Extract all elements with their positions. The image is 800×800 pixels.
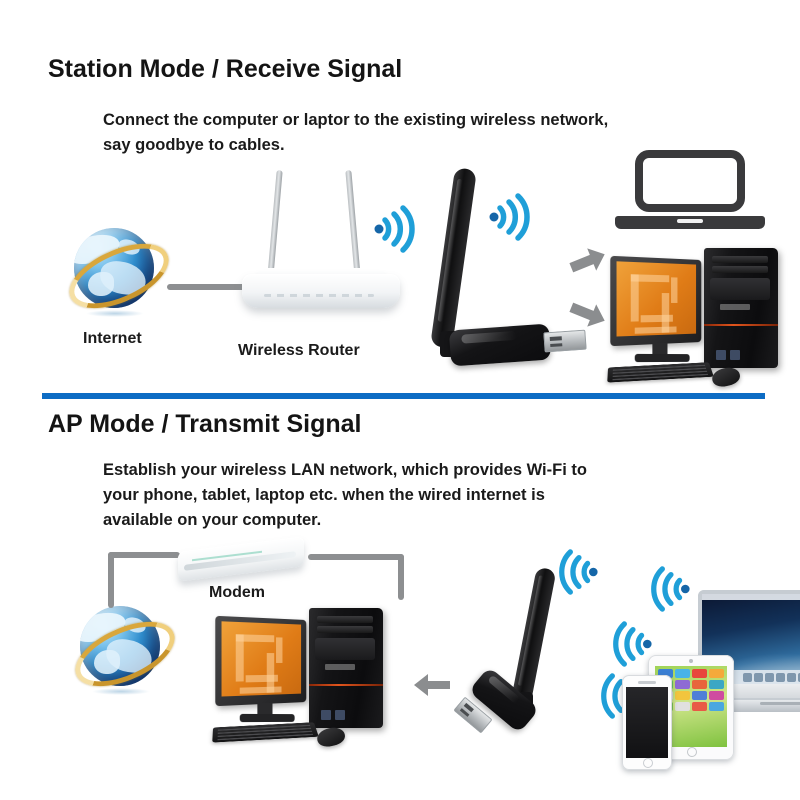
- monitor: [215, 616, 306, 706]
- modem-label: Modem: [209, 584, 265, 602]
- tower-badge: [730, 350, 740, 360]
- computer-tower: [704, 248, 778, 368]
- monitor-stand-base: [240, 714, 295, 722]
- router-body: [242, 274, 400, 308]
- cable-internet-to-modem-horizontal: [108, 552, 180, 558]
- keyboard: [212, 722, 319, 742]
- macbook-menubar: [702, 594, 800, 600]
- laptop-icon: [615, 150, 765, 240]
- wireless-router-label: Wireless Router: [238, 342, 360, 360]
- wifi-signal-icon: [648, 565, 692, 613]
- tower-red-accent: [309, 684, 383, 686]
- mouse: [315, 725, 346, 748]
- monitor-screen: [222, 621, 302, 696]
- tower-red-accent: [704, 324, 778, 326]
- adapter-body: [449, 324, 551, 367]
- usb-wifi-adapter: [418, 165, 578, 365]
- station-mode-title: Station Mode / Receive Signal: [48, 55, 402, 84]
- globe-shadow: [86, 310, 144, 317]
- desktop-computer: [608, 248, 800, 393]
- ap-mode-description-line-3: available on your computer.: [103, 508, 703, 533]
- router-status-leds: [264, 294, 374, 297]
- ap-mode-description-line-2: your phone, tablet, laptop etc. when the…: [103, 483, 703, 508]
- wifi-signal-icon: [372, 204, 418, 254]
- desktop-computer: [213, 608, 413, 753]
- modem-device: [178, 536, 308, 588]
- usb-contact: [550, 343, 562, 347]
- tower-badge: [321, 710, 331, 720]
- internet-label: Internet: [83, 330, 142, 348]
- tower-drive-bay: [712, 256, 768, 263]
- phone-screen: [626, 687, 668, 758]
- adapter-antenna: [430, 167, 477, 348]
- arrow-to-computer-icon: [412, 672, 452, 703]
- wifi-signal-icon: [556, 548, 600, 596]
- phone-speaker: [638, 681, 656, 684]
- globe-internet-icon: [72, 600, 168, 696]
- adapter-antenna: [510, 567, 556, 708]
- tower-drive-bay: [317, 626, 373, 633]
- tower-brand-logo: [720, 304, 750, 310]
- station-mode-description-line-2: say goodbye to cables.: [103, 133, 703, 158]
- arrow-to-desktop-icon: [568, 298, 608, 335]
- infographic-page: Station Mode / Receive Signal Connect th…: [0, 0, 800, 800]
- router-antenna-right: [345, 170, 360, 278]
- section-divider: [42, 393, 765, 399]
- cable-internet-to-modem-vertical: [108, 552, 114, 608]
- station-mode-description: Connect the computer or laptor to the ex…: [103, 108, 703, 158]
- keyboard: [607, 362, 714, 382]
- globe-shadow: [92, 688, 150, 695]
- laptop-trackpad-notch: [677, 219, 703, 223]
- mouse: [710, 365, 741, 388]
- tower-brand-logo: [325, 664, 355, 670]
- smartphone-device: [622, 675, 672, 770]
- tower-badge: [716, 350, 726, 360]
- cable-modem-to-pc-vertical: [398, 554, 404, 600]
- ap-mode-title: AP Mode / Transmit Signal: [48, 410, 362, 439]
- ap-mode-description: Establish your wireless LAN network, whi…: [103, 458, 703, 533]
- tower-front-panel: [710, 278, 770, 300]
- macbook-lip: [760, 702, 800, 705]
- tablet-camera: [689, 659, 693, 663]
- ap-mode-description-line-1: Establish your wireless LAN network, whi…: [103, 458, 703, 483]
- tower-front-panel: [315, 638, 375, 660]
- monitor-stand-base: [635, 354, 690, 362]
- computer-tower: [309, 608, 383, 728]
- usb-contact: [550, 336, 562, 341]
- monitor: [610, 256, 701, 346]
- tablet-home-button: [687, 747, 697, 757]
- router-antenna-left: [267, 170, 282, 278]
- globe-internet-icon: [66, 222, 162, 318]
- monitor-screen: [617, 261, 697, 336]
- tower-drive-bay: [712, 266, 768, 273]
- cable-modem-to-pc-horizontal: [308, 554, 404, 560]
- station-mode-description-line-1: Connect the computer or laptor to the ex…: [103, 108, 703, 133]
- arrow-to-laptop-icon: [568, 245, 608, 282]
- tower-badge: [335, 710, 345, 720]
- laptop-screen: [635, 150, 745, 212]
- tower-drive-bay: [317, 616, 373, 623]
- phone-home-button: [643, 758, 653, 768]
